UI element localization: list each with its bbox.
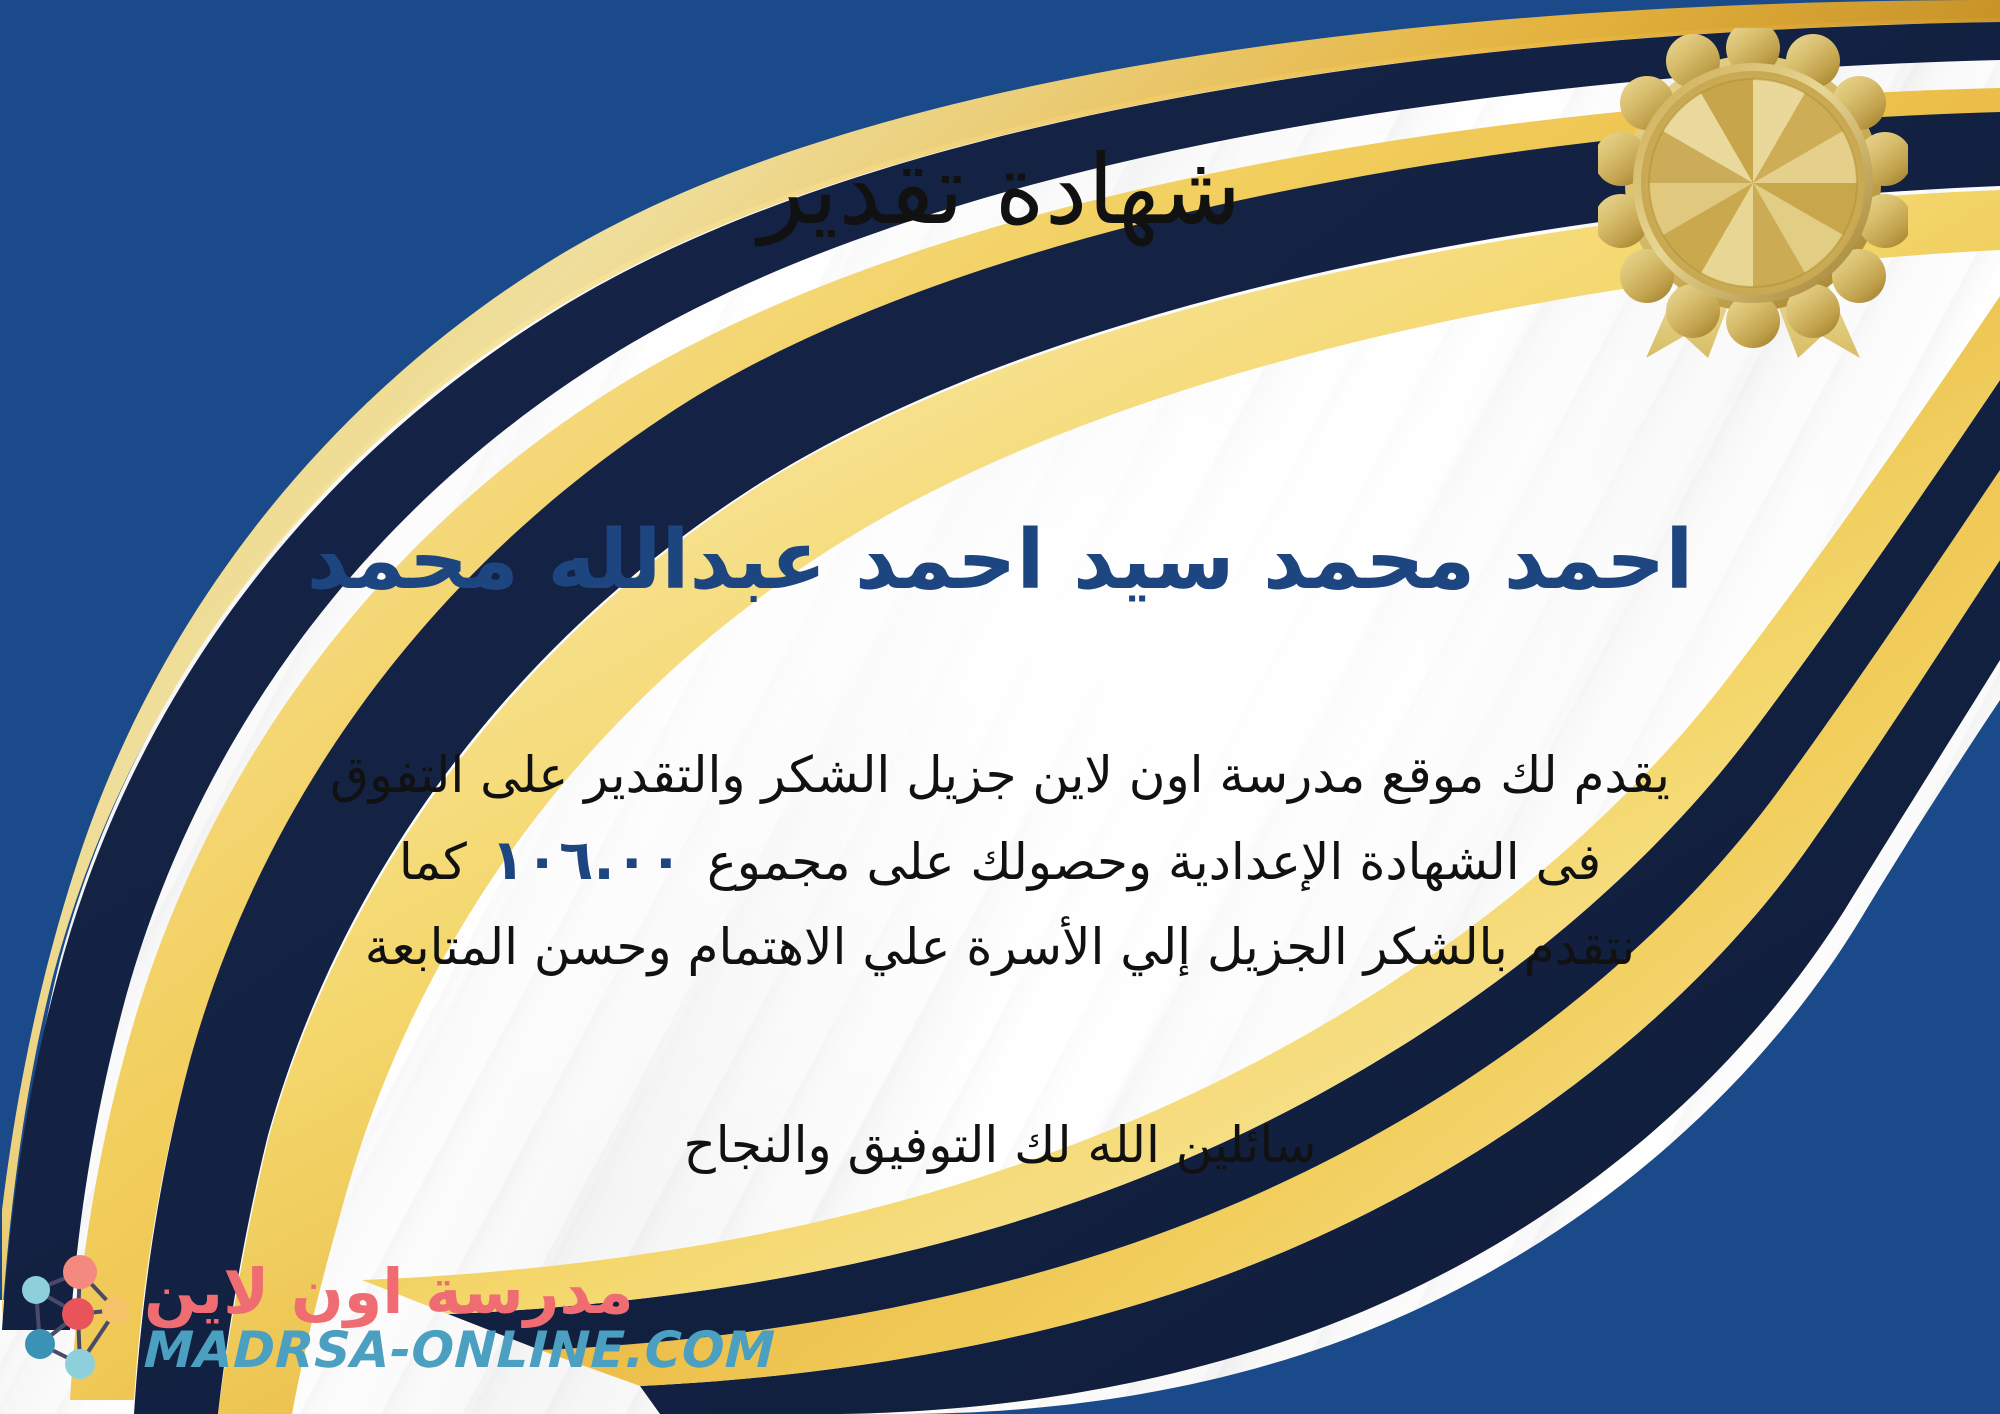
logo-website: MADRSA-ONLINE.COM: [143, 1324, 776, 1376]
closing-line: سائلين الله لك التوفيق والنجاح: [0, 1108, 2000, 1183]
body-line-1: يقدم لك موقع مدرسة اون لاين جزيل الشكر و…: [50, 735, 1950, 816]
score-value: ١٠٦.٠٠: [467, 828, 707, 893]
body-line-2-prefix: فى الشهادة الإعدادية وحصولك على مجموع: [707, 833, 1601, 891]
logo-arabic-name: مدرسة اون لاين: [144, 1260, 634, 1324]
certificate-page: شهادة تقدير احمد محمد سيد احمد عبدالله م…: [0, 0, 2000, 1414]
network-nodes-icon: [18, 1252, 134, 1384]
body-line-2-suffix: كما: [399, 833, 467, 891]
body-line-2: فى الشهادة الإعدادية وحصولك على مجموع١٠٦…: [50, 816, 1950, 907]
certificate-body: يقدم لك موقع مدرسة اون لاين جزيل الشكر و…: [50, 735, 1950, 988]
certificate-title: شهادة تقدير: [0, 130, 2000, 250]
logo-text-group: مدرسة اون لاين MADRSA-ONLINE.COM: [144, 1260, 775, 1376]
body-line-3: نتقدم بالشكر الجزيل إلي الأسرة علي الاهت…: [50, 907, 1950, 988]
site-logo[interactable]: مدرسة اون لاين MADRSA-ONLINE.COM: [18, 1238, 578, 1398]
student-name: احمد محمد سيد احمد عبدالله محمد: [0, 512, 2000, 610]
